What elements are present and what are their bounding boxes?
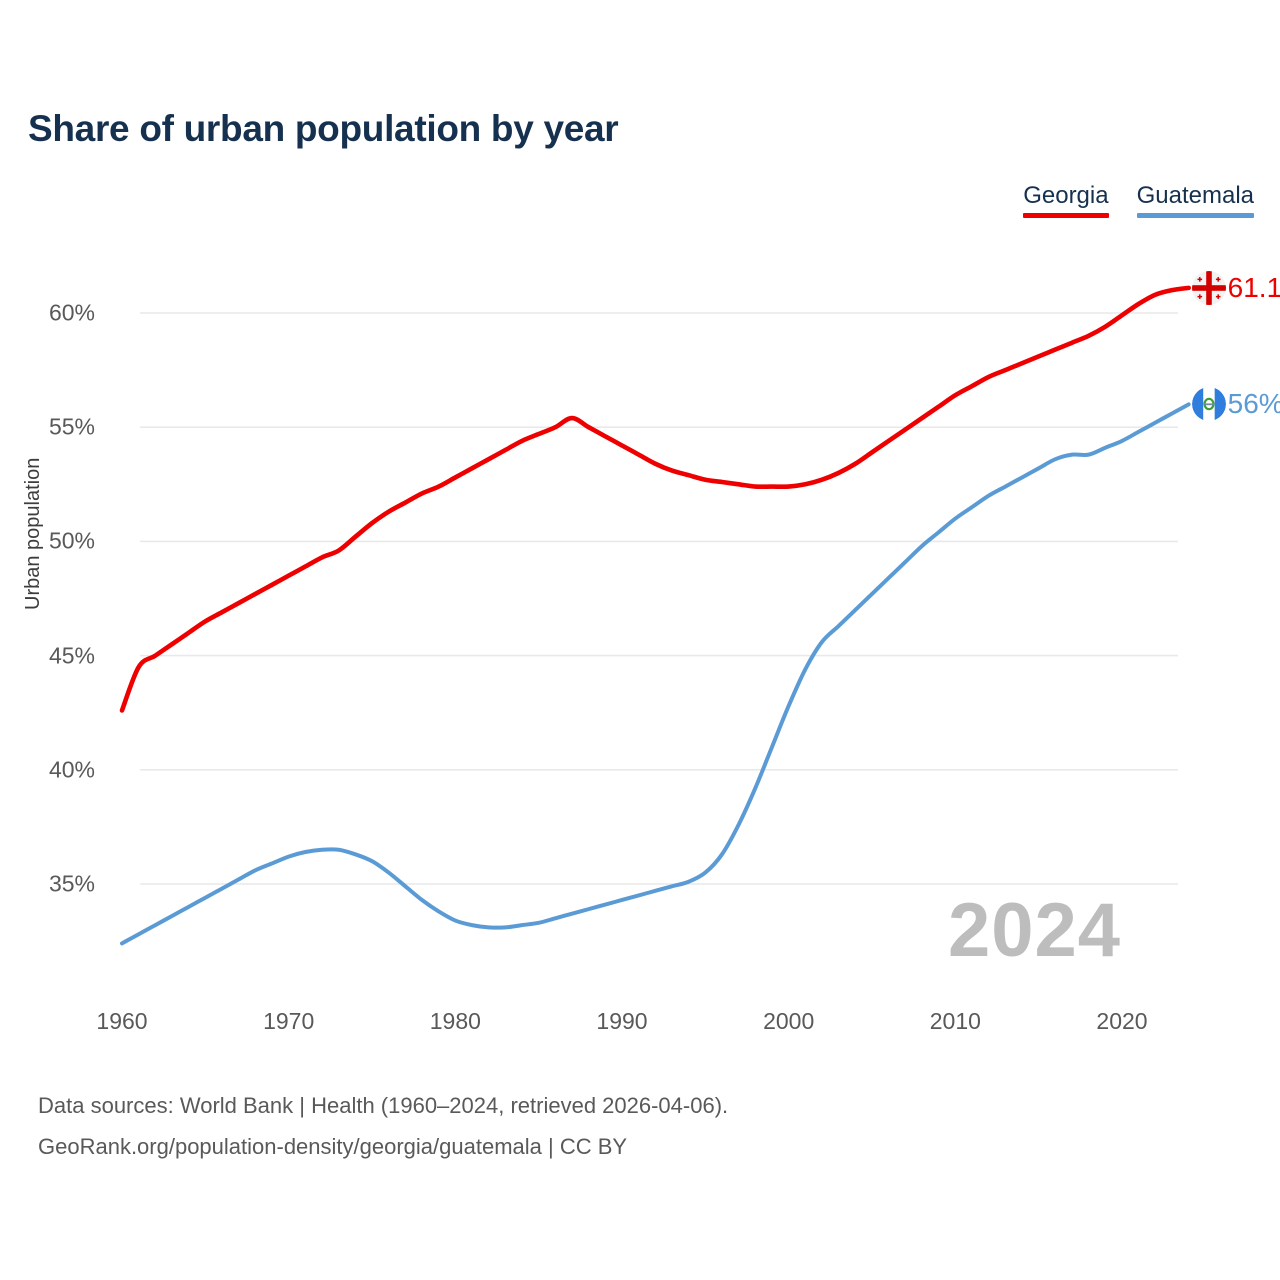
guatemala-flag-icon <box>1192 387 1226 421</box>
endpoint-marker-guatemala: 56% <box>1192 387 1280 421</box>
series-line-georgia <box>122 288 1189 711</box>
x-axis-tick-label: 1960 <box>96 1008 147 1035</box>
endpoint-marker-georgia: 61.1% <box>1192 271 1280 305</box>
georgia-flag-icon <box>1192 271 1226 305</box>
x-axis-tick-label: 2010 <box>930 1008 981 1035</box>
footer-attribution: Data sources: World Bank | Health (1960–… <box>38 1085 728 1167</box>
x-axis-tick-label: 1970 <box>263 1008 314 1035</box>
x-axis-tick-label: 1980 <box>430 1008 481 1035</box>
y-axis-tick-label: 40% <box>49 756 95 783</box>
year-watermark: 2024 <box>948 893 1121 969</box>
endpoint-value-georgia: 61.1% <box>1228 272 1280 304</box>
footer-line-license[interactable]: GeoRank.org/population-density/georgia/g… <box>38 1126 728 1167</box>
y-axis-tick-label: 60% <box>49 300 95 327</box>
y-axis-title: Urban population <box>22 458 45 610</box>
y-axis-tick-label: 45% <box>49 642 95 669</box>
endpoint-value-guatemala: 56% <box>1228 388 1280 420</box>
x-axis-tick-label: 2000 <box>763 1008 814 1035</box>
y-axis-tick-label: 55% <box>49 414 95 441</box>
chart-page: Share of urban population by year Georgi… <box>0 0 1280 1280</box>
x-axis-tick-label: 2020 <box>1096 1008 1147 1035</box>
y-axis-tick-label: 50% <box>49 528 95 555</box>
series-line-guatemala <box>122 404 1189 943</box>
y-axis-tick-label: 35% <box>49 871 95 898</box>
x-axis-tick-label: 1990 <box>596 1008 647 1035</box>
footer-line-sources: Data sources: World Bank | Health (1960–… <box>38 1085 728 1126</box>
